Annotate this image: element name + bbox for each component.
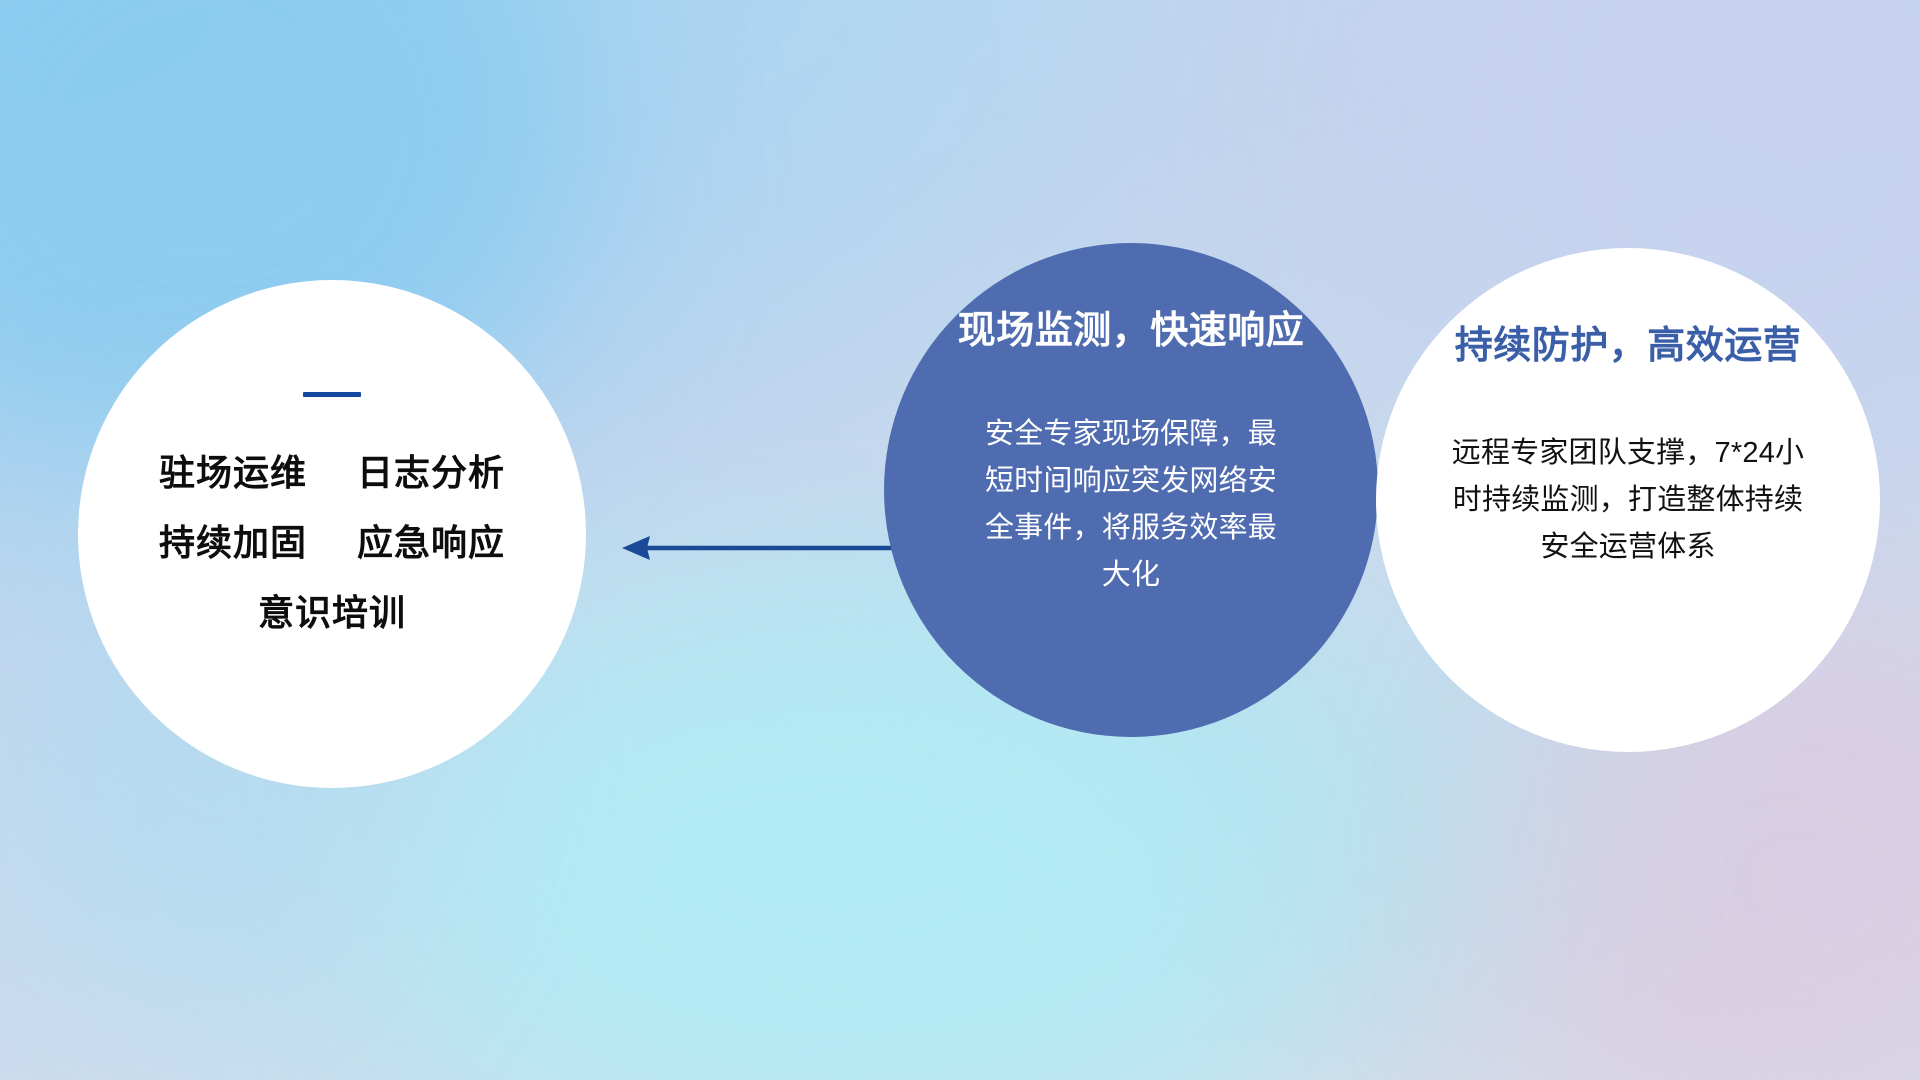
- remote-description: 远程专家团队支撑，7*24小时持续监测，打造整体持续安全运营体系: [1448, 430, 1808, 571]
- keyword-log-analysis: 日志分析: [357, 452, 505, 493]
- keyword-row-2: 持续加固 应急响应: [159, 525, 505, 561]
- keyword-driving-ops: 驻场运维: [159, 452, 307, 493]
- flow-arrow-left-icon: [610, 520, 900, 576]
- keyword-continuous-hardening: 持续加固: [159, 522, 307, 563]
- service-circle-remote[interactable]: 持续防护，高效运营 远程专家团队支撑，7*24小时持续监测，打造整体持续安全运营…: [1376, 248, 1880, 752]
- accent-dash-icon: [303, 392, 361, 397]
- onsite-title: 现场监测，快速响应: [958, 311, 1305, 353]
- capability-circle-left[interactable]: 驻场运维 日志分析 持续加固 应急响应 意识培训: [78, 280, 586, 788]
- keyword-row-3: 意识培训: [258, 595, 406, 631]
- keyword-awareness-training: 意识培训: [258, 592, 406, 633]
- onsite-description: 安全专家现场保障，最短时间响应突发网络安全事件，将服务效率最大化: [976, 411, 1286, 599]
- keyword-row-1: 驻场运维 日志分析: [159, 455, 505, 491]
- service-circle-onsite[interactable]: 现场监测，快速响应 安全专家现场保障，最短时间响应突发网络安全事件，将服务效率最…: [884, 243, 1378, 737]
- remote-title: 持续防护，高效运营: [1455, 326, 1802, 368]
- keyword-emergency-response: 应急响应: [357, 522, 505, 563]
- diagram-stage: 驻场运维 日志分析 持续加固 应急响应 意识培训 现场监测，快速响应 安全专家现…: [0, 0, 1920, 1080]
